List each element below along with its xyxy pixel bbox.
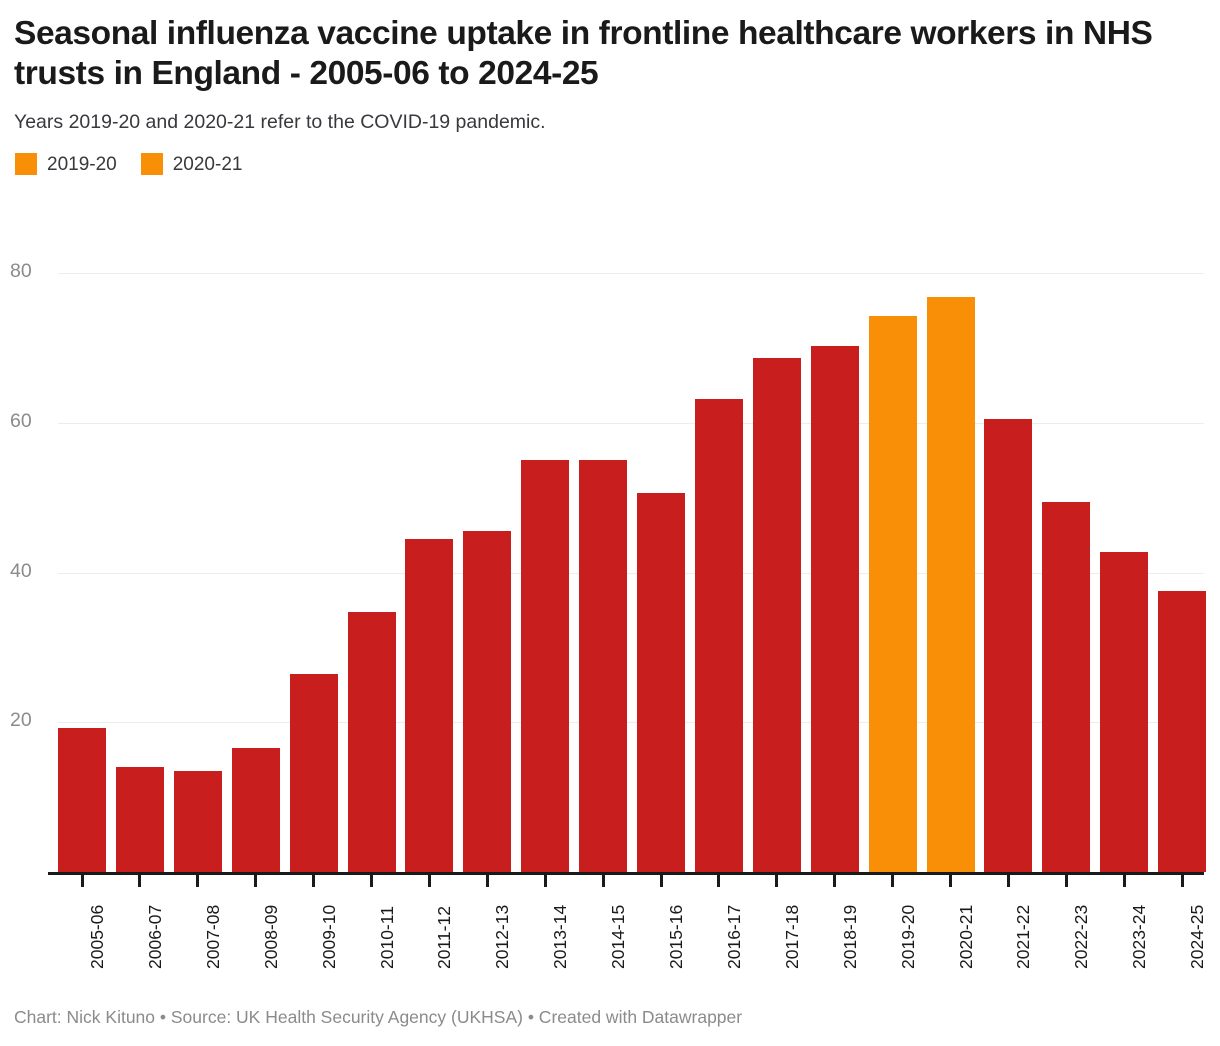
bar-2019-20[interactable] bbox=[869, 316, 917, 872]
x-axis-tick bbox=[254, 875, 257, 887]
x-axis-label-2013-14: 2013-14 bbox=[552, 905, 570, 969]
x-axis-label-2018-19: 2018-19 bbox=[842, 905, 860, 969]
bar-2023-24[interactable] bbox=[1100, 552, 1148, 872]
x-axis-tick bbox=[428, 875, 431, 887]
x-axis-line bbox=[48, 872, 1204, 875]
bar-2013-14[interactable] bbox=[521, 460, 569, 872]
x-axis-tick bbox=[138, 875, 141, 887]
x-axis-tick bbox=[1181, 875, 1184, 887]
bar-2022-23[interactable] bbox=[1042, 502, 1090, 872]
x-axis-tick bbox=[370, 875, 373, 887]
x-axis-label-2006-07: 2006-07 bbox=[147, 905, 165, 969]
y-axis-tick-label: 40 bbox=[10, 562, 52, 582]
bar-2010-11[interactable] bbox=[348, 612, 396, 872]
gridline-20 bbox=[58, 722, 1204, 723]
legend-item-2020-21[interactable]: 2020-21 bbox=[141, 153, 243, 175]
chart-footer: Chart: Nick Kituno • Source: UK Health S… bbox=[14, 1007, 742, 1028]
x-axis-tick bbox=[1065, 875, 1068, 887]
x-axis-label-2014-15: 2014-15 bbox=[610, 905, 628, 969]
gridline-80 bbox=[58, 273, 1204, 274]
bar-2018-19[interactable] bbox=[811, 346, 859, 872]
y-axis-tick-label: 20 bbox=[10, 711, 52, 731]
bar-2009-10[interactable] bbox=[290, 674, 338, 872]
x-axis-label-2021-22: 2021-22 bbox=[1015, 905, 1033, 969]
x-axis-tick bbox=[775, 875, 778, 887]
legend-item-label: 2019-20 bbox=[47, 155, 117, 174]
x-axis-label-2019-20: 2019-20 bbox=[900, 905, 918, 969]
legend-item-label: 2020-21 bbox=[173, 155, 243, 174]
x-axis-label-2011-12: 2011-12 bbox=[436, 906, 454, 969]
x-axis-label-2017-18: 2017-18 bbox=[784, 905, 802, 969]
x-axis-label-2024-25: 2024-25 bbox=[1189, 905, 1207, 969]
y-axis-tick-label: 60 bbox=[10, 412, 52, 432]
x-axis-tick bbox=[833, 875, 836, 887]
bar-2012-13[interactable] bbox=[463, 531, 511, 872]
x-axis-label-2007-08: 2007-08 bbox=[205, 905, 223, 969]
x-axis-label-2010-11: 2010-11 bbox=[379, 906, 397, 969]
x-axis-label-2022-23: 2022-23 bbox=[1073, 905, 1091, 969]
legend-swatch-icon bbox=[141, 153, 163, 175]
page-title: Seasonal influenza vaccine uptake in fro… bbox=[14, 14, 1194, 93]
bar-2011-12[interactable] bbox=[405, 539, 453, 872]
x-axis-tick bbox=[602, 875, 605, 887]
gridline-40 bbox=[58, 573, 1204, 574]
x-axis-tick bbox=[1007, 875, 1010, 887]
legend-item-2019-20[interactable]: 2019-20 bbox=[15, 153, 117, 175]
x-axis-tick bbox=[1123, 875, 1126, 887]
x-axis-tick bbox=[949, 875, 952, 887]
x-axis-label-2005-06: 2005-06 bbox=[89, 905, 107, 969]
y-axis-tick-label: 80 bbox=[10, 262, 52, 282]
gridline-60 bbox=[58, 423, 1204, 424]
x-axis-label-2016-17: 2016-17 bbox=[726, 905, 744, 969]
x-axis-tick bbox=[486, 875, 489, 887]
bar-2021-22[interactable] bbox=[984, 419, 1032, 872]
chart-subtitle: Years 2019-20 and 2020-21 refer to the C… bbox=[14, 110, 1202, 135]
x-axis-label-2009-10: 2009-10 bbox=[321, 905, 339, 969]
x-axis-tick bbox=[196, 875, 199, 887]
x-axis-tick bbox=[81, 875, 84, 887]
x-axis-tick bbox=[717, 875, 720, 887]
x-axis-label-2008-09: 2008-09 bbox=[263, 905, 281, 969]
x-axis-tick bbox=[544, 875, 547, 887]
chart-legend: 2019-202020-21 bbox=[15, 153, 1202, 175]
x-axis-label-2020-21: 2020-21 bbox=[958, 905, 976, 969]
legend-swatch-icon bbox=[15, 153, 37, 175]
x-axis-label-2015-16: 2015-16 bbox=[668, 905, 686, 969]
bar-2007-08[interactable] bbox=[174, 771, 222, 872]
bar-2008-09[interactable] bbox=[232, 748, 280, 872]
bar-2024-25[interactable] bbox=[1158, 591, 1206, 872]
bar-2017-18[interactable] bbox=[753, 358, 801, 872]
x-axis-tick bbox=[660, 875, 663, 887]
bar-2014-15[interactable] bbox=[579, 460, 627, 872]
bar-2015-16[interactable] bbox=[637, 493, 685, 872]
bar-2016-17[interactable] bbox=[695, 399, 743, 872]
chart-page: Seasonal influenza vaccine uptake in fro… bbox=[0, 0, 1220, 1046]
chart-header: Seasonal influenza vaccine uptake in fro… bbox=[0, 0, 1220, 175]
x-axis-label-2012-13: 2012-13 bbox=[494, 905, 512, 969]
x-axis-tick bbox=[312, 875, 315, 887]
x-axis-tick bbox=[891, 875, 894, 887]
bar-2005-06[interactable] bbox=[58, 728, 106, 872]
bar-2006-07[interactable] bbox=[116, 767, 164, 872]
bar-2020-21[interactable] bbox=[927, 297, 975, 872]
x-axis-label-2023-24: 2023-24 bbox=[1131, 905, 1149, 969]
